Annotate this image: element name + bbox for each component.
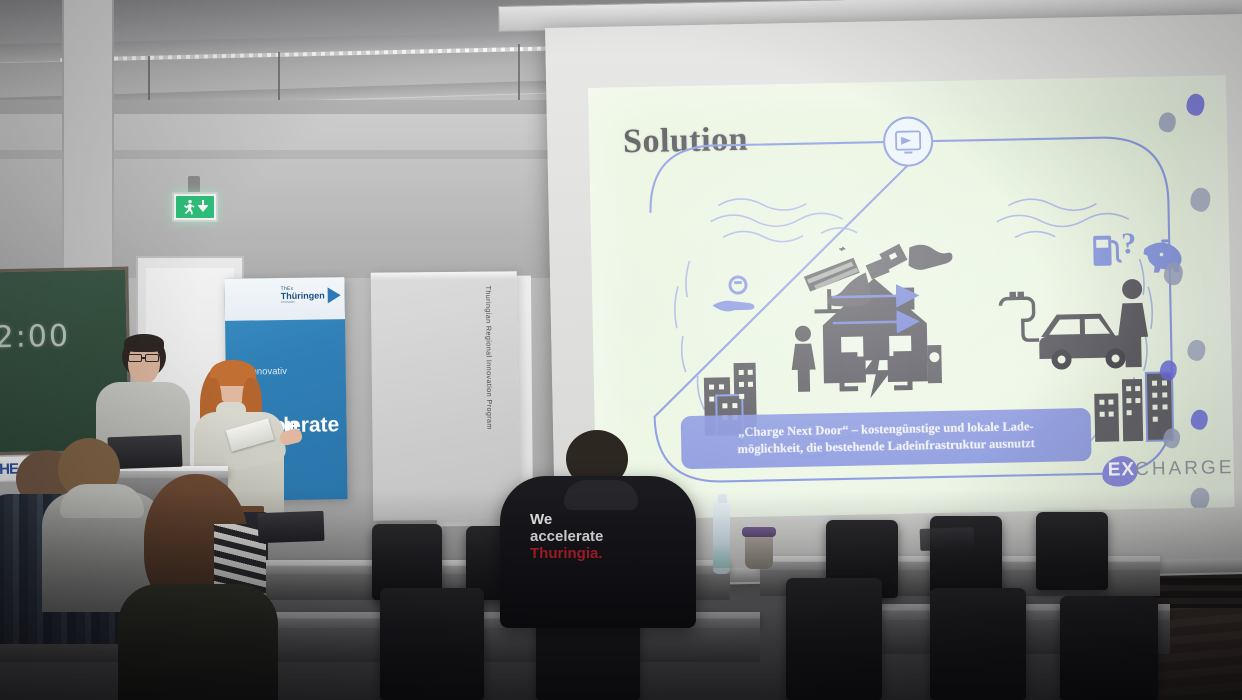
chair[interactable]: [786, 578, 882, 700]
coffee-cup-lid: [742, 527, 776, 537]
bottle-cap: [718, 494, 727, 503]
emergency-exit-sign: [172, 192, 218, 222]
play-arrow-icon: [328, 287, 341, 303]
jacket-text-line1: We: [530, 512, 680, 529]
chair[interactable]: [930, 588, 1026, 700]
monitor-badge-icon: [884, 117, 933, 166]
trip-banner-subtitle: Thuringian Regional Innovation Program: [484, 285, 495, 429]
fuel-pump-icon: [1093, 235, 1122, 266]
chair[interactable]: [1060, 596, 1158, 700]
question-mark-icon: ?: [1121, 227, 1137, 260]
thex-banner-header: ThEx Thüringen innovativ: [224, 277, 345, 321]
laptop: [920, 527, 975, 551]
attendee-longhair-torso: [118, 584, 278, 700]
city-buildings-icon: [1094, 372, 1173, 442]
presentation-slide: Solution: [588, 75, 1235, 520]
slide-caption: „Charge Next Door“ – kostengünstige und …: [681, 408, 1092, 469]
jacket-text-line2: accelerate: [530, 529, 680, 546]
arrow-left-icon: [832, 295, 914, 297]
banner-top-rail: [371, 271, 517, 281]
hood: [60, 484, 144, 518]
jacket-text-line3: Thuringia.: [530, 546, 680, 563]
hand-coin-icon: [712, 277, 755, 312]
ceiling-hanger: [518, 44, 520, 102]
person-icon: [791, 325, 816, 391]
logo-ex-text: EX: [1108, 459, 1136, 482]
exit-arrow-icon: [198, 200, 208, 214]
thex-logo-line3: innovativ: [281, 301, 325, 305]
hood-collar: [564, 480, 638, 510]
arrow-right-icon: [833, 321, 915, 323]
window-column: [62, 0, 114, 284]
glasses-icon: [128, 354, 142, 362]
chair[interactable]: [1036, 512, 1108, 590]
laptop: [257, 511, 324, 543]
electric-car-icon: [1000, 291, 1136, 371]
logo-charge-text: CHARGE: [1135, 457, 1235, 481]
running-person-icon: [182, 199, 196, 215]
chalkboard-time: 12:00: [0, 319, 70, 356]
thex-logo: ThEx Thüringen innovativ: [280, 277, 343, 315]
glasses-icon: [145, 354, 159, 362]
attendee-hoodie-body: We accelerate Thuringia.: [500, 476, 696, 628]
excharge-logo: EX CHARGE: [1108, 457, 1235, 482]
trip-banner: TRIP Thuringian Regional Innovation Prog…: [371, 271, 520, 521]
bottle-label: [713, 545, 730, 568]
chair[interactable]: [380, 588, 484, 700]
lecture-hall-photo: 12:00 5 FHE Solution: [0, 0, 1242, 700]
